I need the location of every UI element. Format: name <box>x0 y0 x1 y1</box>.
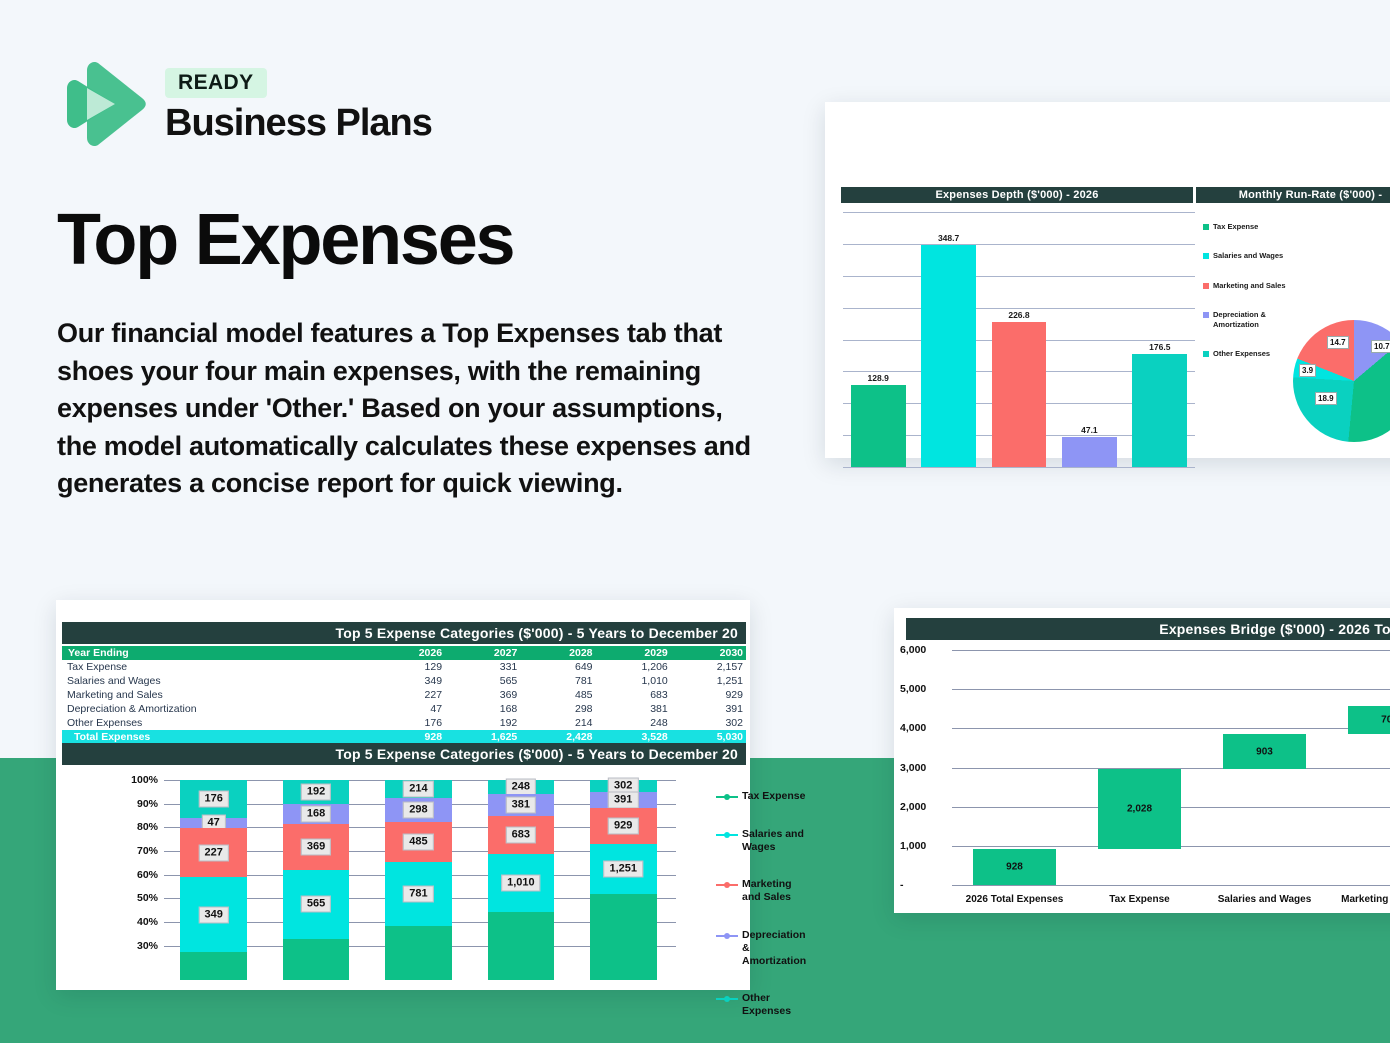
y-axis-tick: 40% <box>116 916 158 928</box>
row-value: 391 <box>671 702 746 716</box>
segment-value-label: 1,010 <box>501 874 541 891</box>
bar-2: 226.8 <box>992 322 1047 467</box>
segment-value-label: 485 <box>403 834 433 851</box>
y-axis-tick: 2,000 <box>900 801 946 813</box>
legend-swatch <box>1203 253 1209 259</box>
legend-swatch <box>1203 312 1209 318</box>
table-body: Tax Expense1293316491,2062,157Salaries a… <box>62 660 746 744</box>
gridline <box>843 276 1195 277</box>
waterfall-bar-1: 2,028 <box>1098 769 1181 848</box>
table-header-row: Year Ending20262027202820292030 <box>62 646 746 660</box>
segment-tax-expense <box>488 912 555 980</box>
segment-other-expenses: 302 <box>590 780 657 792</box>
gridline <box>843 244 1195 245</box>
segment-value-label: 248 <box>506 779 536 796</box>
gridline <box>843 212 1195 213</box>
expenses-depth-title: Expenses Depth ($'000) - 2026 <box>841 187 1193 203</box>
total-value: 1,625 <box>445 730 520 744</box>
table-col-header: Year Ending <box>62 646 377 660</box>
waterfall-value-label: 2,028 <box>1098 803 1181 814</box>
legend-swatch <box>1203 283 1209 289</box>
gridline <box>952 728 1390 729</box>
legend-item: Other Expenses <box>1203 349 1291 358</box>
segment-value-label: 168 <box>301 805 331 822</box>
stacked-bar-0: 17647227349 <box>180 780 247 980</box>
segment-marketing-and-sales: 485 <box>385 822 452 862</box>
legend-item: Depreciation & Amortization <box>1203 310 1291 329</box>
row-value: 129 <box>377 660 445 674</box>
segment-tax-expense <box>590 894 657 980</box>
total-value: 2,428 <box>520 730 595 744</box>
top-expense-categories-card: Top 5 Expense Categories ($'000) - 5 Yea… <box>56 600 750 990</box>
segment-marketing-and-sales: 929 <box>590 808 657 845</box>
expenses-depth-legend: Tax ExpenseSalaries and WagesMarketing a… <box>1203 222 1291 378</box>
y-axis-tick: 5,000 <box>900 683 946 695</box>
row-value: 248 <box>596 716 671 730</box>
gridline <box>952 689 1390 690</box>
table-row: Depreciation & Amortization4716829838139… <box>62 702 746 716</box>
expenses-bridge-plot: 6,0005,0004,0003,0002,0001,000-9282026 T… <box>952 650 1390 885</box>
bar-value-label: 128.9 <box>851 373 906 383</box>
segment-tax-expense <box>385 926 452 979</box>
legend-label: Other Expenses <box>1213 349 1270 358</box>
x-axis-category: Tax Expense <box>1077 894 1202 905</box>
table-col-header: 2028 <box>520 646 595 660</box>
row-value: 227 <box>377 688 445 702</box>
x-axis-category: 2026 Total Expenses <box>952 894 1077 905</box>
expense-chart-title: Top 5 Expense Categories ($'000) - 5 Yea… <box>62 743 746 765</box>
y-axis-tick: 30% <box>116 940 158 952</box>
stacked-bar-3: 2483816831,010 <box>488 780 555 980</box>
segment-depreciation-amortization: 381 <box>488 794 555 816</box>
row-label: Depreciation & Amortization <box>62 702 377 716</box>
waterfall-bar-2: 903 <box>1223 734 1306 769</box>
legend-dot <box>724 832 730 838</box>
table-row: Salaries and Wages3495657811,0101,251 <box>62 674 746 688</box>
chart-titlebar-row: Expenses Depth ($'000) - 2026 Monthly Ru… <box>841 187 1390 203</box>
segment-value-label: 381 <box>506 796 536 813</box>
row-value: 331 <box>445 660 520 674</box>
table-row: Marketing and Sales227369485683929 <box>62 688 746 702</box>
row-value: 349 <box>377 674 445 688</box>
bar-value-label: 348.7 <box>921 233 976 243</box>
y-axis-tick: 60% <box>116 869 158 881</box>
x-axis-category: Marketing and Sales <box>1327 894 1390 905</box>
y-axis-tick: - <box>900 879 946 891</box>
row-value: 565 <box>445 674 520 688</box>
legend-marker <box>716 931 738 940</box>
bar-value-label: 176.5 <box>1132 342 1187 352</box>
segment-salaries-and-wages: 1,251 <box>590 844 657 894</box>
row-value: 1,206 <box>596 660 671 674</box>
expenses-depth-card: Expenses Depth ($'000) - 2026 Monthly Ru… <box>825 102 1390 458</box>
waterfall-value-label: 928 <box>973 861 1056 872</box>
segment-salaries-and-wages: 1,010 <box>488 854 555 911</box>
monthly-run-rate-pie: 10.718.93.914.7 <box>1293 320 1390 442</box>
row-value: 381 <box>596 702 671 716</box>
play-triangle-logo-icon <box>57 58 149 150</box>
segment-salaries-and-wages: 565 <box>283 870 350 940</box>
total-value: 5,030 <box>671 730 746 744</box>
bar-1: 348.7 <box>921 245 976 467</box>
row-value: 649 <box>520 660 595 674</box>
row-value: 369 <box>445 688 520 702</box>
legend-dot <box>724 794 730 800</box>
segment-marketing-and-sales: 369 <box>283 824 350 869</box>
brand-name: Business Plans <box>165 104 432 142</box>
row-value: 47 <box>377 702 445 716</box>
ready-badge: READY <box>165 68 267 98</box>
legend-marker <box>716 994 738 1003</box>
row-value: 302 <box>671 716 746 730</box>
legend-label: Depreciation & Amortization <box>742 929 811 967</box>
total-label: Total Expenses <box>62 730 377 744</box>
stacked-expense-plot: 100%90%80%70%60%50%40%30%176472273491921… <box>164 780 676 980</box>
row-label: Salaries and Wages <box>62 674 377 688</box>
page-description: Our financial model features a Top Expen… <box>57 315 757 503</box>
row-value: 192 <box>445 716 520 730</box>
segment-value-label: 683 <box>506 827 536 844</box>
gridline <box>843 467 1195 468</box>
expense-table-title: Top 5 Expense Categories ($'000) - 5 Yea… <box>62 622 746 644</box>
y-axis-tick: 1,000 <box>900 840 946 852</box>
segment-value-label: 391 <box>608 791 638 808</box>
segment-value-label: 298 <box>403 801 433 818</box>
row-label: Marketing and Sales <box>62 688 377 702</box>
expenses-bridge-title: Expenses Bridge ($'000) - 2026 Total Exp… <box>906 618 1390 640</box>
legend-item: Depreciation & Amortization <box>716 929 811 967</box>
row-value: 683 <box>596 688 671 702</box>
segment-other-expenses: 248 <box>488 780 555 794</box>
segment-value-label: 781 <box>403 886 433 903</box>
row-value: 485 <box>520 688 595 702</box>
segment-salaries-and-wages: 781 <box>385 862 452 926</box>
pie-value-label: 14.7 <box>1327 336 1349 349</box>
segment-salaries-and-wages: 349 <box>180 877 247 952</box>
legend-item: Salaries and Wages <box>716 828 811 854</box>
bar-value-label: 47.1 <box>1062 425 1117 435</box>
segment-value-label: 214 <box>403 780 433 797</box>
legend-label: Other Expenses <box>742 992 811 1018</box>
segment-other-expenses: 192 <box>283 780 350 804</box>
legend-item: Tax Expense <box>716 790 811 803</box>
pie-value-label: 18.9 <box>1315 392 1337 405</box>
row-value: 1,251 <box>671 674 746 688</box>
segment-value-label: 227 <box>198 844 228 861</box>
legend-dot <box>724 933 730 939</box>
segment-depreciation-amortization: 47 <box>180 818 247 828</box>
monthly-run-rate-title: Monthly Run-Rate ($'000) - <box>1196 187 1390 203</box>
y-axis-tick: 80% <box>116 821 158 833</box>
row-label: Tax Expense <box>62 660 377 674</box>
bar-3: 47.1 <box>1062 437 1117 467</box>
segment-tax-expense <box>283 939 350 980</box>
segment-depreciation-amortization: 168 <box>283 804 350 825</box>
legend-label: Marketing and Sales <box>742 878 811 904</box>
segment-value-label: 1,251 <box>603 861 643 878</box>
legend-item: Tax Expense <box>1203 222 1291 231</box>
legend-swatch <box>1203 351 1209 357</box>
bar-0: 128.9 <box>851 385 906 467</box>
waterfall-value-label: 702 <box>1348 715 1390 726</box>
table-col-header: 2030 <box>671 646 746 660</box>
legend-item: Salaries and Wages <box>1203 251 1291 260</box>
pie-value-label: 3.9 <box>1299 364 1316 377</box>
expenses-bridge-card: Expenses Bridge ($'000) - 2026 Total Exp… <box>894 608 1390 913</box>
expense-table-wrap: Year Ending20262027202820292030 Tax Expe… <box>62 646 746 744</box>
segment-other-expenses: 176 <box>180 780 247 818</box>
legend-item: Marketing and Sales <box>1203 281 1291 290</box>
legend-dot <box>724 882 730 888</box>
stacked-expense-legend: Tax ExpenseSalaries and WagesMarketing a… <box>716 790 811 1043</box>
y-axis-tick: 90% <box>116 798 158 810</box>
pie-value-label: 10.7 <box>1371 340 1390 353</box>
y-axis-tick: 4,000 <box>900 722 946 734</box>
row-value: 214 <box>520 716 595 730</box>
table-col-header: 2026 <box>377 646 445 660</box>
segment-value-label: 349 <box>198 906 228 923</box>
legend-label: Salaries and Wages <box>1213 251 1283 260</box>
legend-item: Other Expenses <box>716 992 811 1018</box>
segment-value-label: 176 <box>198 790 228 807</box>
segment-tax-expense <box>180 952 247 980</box>
row-value: 1,010 <box>596 674 671 688</box>
segment-value-label: 929 <box>608 818 638 835</box>
legend-marker <box>716 880 738 889</box>
row-value: 298 <box>520 702 595 716</box>
row-value: 781 <box>520 674 595 688</box>
row-label: Other Expenses <box>62 716 377 730</box>
brand-logo: READY Business Plans <box>57 58 432 150</box>
legend-swatch <box>1203 224 1209 230</box>
legend-label: Salaries and Wages <box>742 828 811 854</box>
row-value: 176 <box>377 716 445 730</box>
table-row: Other Expenses176192214248302 <box>62 716 746 730</box>
legend-label: Depreciation & Amortization <box>1213 310 1291 329</box>
total-value: 3,528 <box>596 730 671 744</box>
segment-value-label: 369 <box>301 839 331 856</box>
waterfall-value-label: 903 <box>1223 746 1306 757</box>
legend-label: Marketing and Sales <box>1213 281 1286 290</box>
gridline <box>952 650 1390 651</box>
segment-depreciation-amortization: 391 <box>590 792 657 808</box>
waterfall-bar-3: 702 <box>1348 706 1390 733</box>
row-value: 2,157 <box>671 660 746 674</box>
legend-marker <box>716 830 738 839</box>
table-total-row: Total Expenses9281,6252,4283,5285,030 <box>62 730 746 744</box>
waterfall-bar-0: 928 <box>973 849 1056 885</box>
expenses-depth-plot: 128.9348.7226.847.1176.5 <box>843 212 1195 467</box>
gridline <box>952 885 1390 886</box>
row-value: 168 <box>445 702 520 716</box>
table-col-header: 2027 <box>445 646 520 660</box>
y-axis-tick: 100% <box>116 774 158 786</box>
segment-marketing-and-sales: 683 <box>488 816 555 855</box>
row-value: 929 <box>671 688 746 702</box>
segment-marketing-and-sales: 227 <box>180 828 247 877</box>
segment-other-expenses: 214 <box>385 780 452 798</box>
y-axis-tick: 70% <box>116 845 158 857</box>
page-title: Top Expenses <box>57 203 513 279</box>
x-axis-category: Salaries and Wages <box>1202 894 1327 905</box>
legend-dot <box>724 996 730 1002</box>
gridline <box>843 308 1195 309</box>
legend-label: Tax Expense <box>1213 222 1258 231</box>
segment-value-label: 192 <box>301 783 331 800</box>
segment-depreciation-amortization: 298 <box>385 798 452 823</box>
total-value: 928 <box>377 730 445 744</box>
table-row: Tax Expense1293316491,2062,157 <box>62 660 746 674</box>
bar-value-label: 226.8 <box>992 310 1047 320</box>
stacked-bar-1: 192168369565 <box>283 780 350 980</box>
bar-4: 176.5 <box>1132 354 1187 467</box>
legend-marker <box>716 792 738 801</box>
stacked-bar-2: 214298485781 <box>385 780 452 980</box>
legend-item: Marketing and Sales <box>716 878 811 904</box>
legend-label: Tax Expense <box>742 790 805 803</box>
y-axis-tick: 50% <box>116 892 158 904</box>
y-axis-tick: 6,000 <box>900 644 946 656</box>
stacked-bar-4: 3023919291,251 <box>590 780 657 980</box>
y-axis-tick: 3,000 <box>900 762 946 774</box>
segment-value-label: 565 <box>301 896 331 913</box>
table-col-header: 2029 <box>596 646 671 660</box>
expense-table: Year Ending20262027202820292030 Tax Expe… <box>62 646 746 744</box>
